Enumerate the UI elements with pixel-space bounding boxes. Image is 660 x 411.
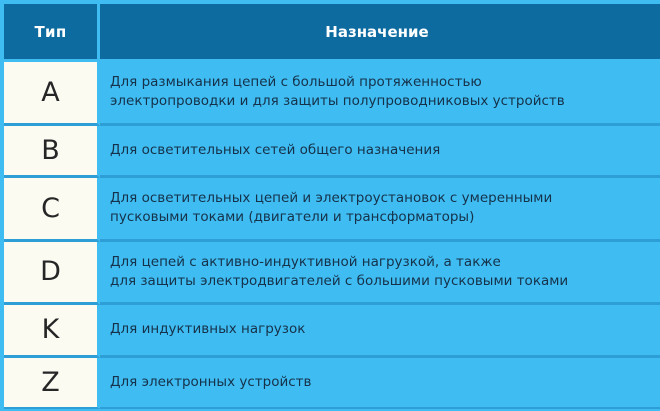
purpose-line: электропроводки и для защиты полупроводн…: [110, 92, 652, 111]
cell-type-z: Z: [4, 358, 100, 409]
purpose-line: Для цепей с активно-индуктивной нагрузко…: [110, 253, 652, 272]
purpose-line: пусковыми токами (двигатели и трансформа…: [110, 208, 652, 227]
cell-purpose-z: Для электронных устройств: [100, 358, 660, 409]
purpose-line: Для индуктивных нагрузок: [110, 320, 652, 339]
cell-type-d: D: [4, 242, 100, 306]
table-frame: Тип Назначение A Для размыкания цепей с …: [0, 0, 660, 411]
purpose-line: Для осветительных цепей и электроустанов…: [110, 189, 652, 208]
cell-type-k: K: [4, 305, 100, 358]
purpose-line: Для осветительных сетей общего назначени…: [110, 141, 652, 160]
cell-purpose-c: Для осветительных цепей и электроустанов…: [100, 178, 660, 242]
purpose-line: Для размыкания цепей с большой протяженн…: [110, 73, 652, 92]
table-row: K Для индуктивных нагрузок: [4, 305, 660, 358]
column-header-purpose: Назначение: [100, 4, 660, 62]
cell-type-b: B: [4, 126, 100, 179]
table-row: B Для осветительных сетей общего назначе…: [4, 126, 660, 179]
cell-purpose-k: Для индуктивных нагрузок: [100, 305, 660, 358]
table-row: Z Для электронных устройств: [4, 358, 660, 409]
purpose-line: для защиты электродвигателей с большими …: [110, 272, 652, 291]
cell-type-a: A: [4, 62, 100, 126]
cell-purpose-b: Для осветительных сетей общего назначени…: [100, 126, 660, 179]
cell-purpose-d: Для цепей с активно-индуктивной нагрузко…: [100, 242, 660, 306]
table-row: C Для осветительных цепей и электроустан…: [4, 178, 660, 242]
purpose-line: Для электронных устройств: [110, 373, 652, 392]
table-row: D Для цепей с активно-индуктивной нагруз…: [4, 242, 660, 306]
breaker-type-table: Тип Назначение A Для размыкания цепей с …: [4, 4, 660, 409]
cell-purpose-a: Для размыкания цепей с большой протяженн…: [100, 62, 660, 126]
table-row: A Для размыкания цепей с большой протяже…: [4, 62, 660, 126]
table-header-row: Тип Назначение: [4, 4, 660, 62]
cell-type-c: C: [4, 178, 100, 242]
column-header-type: Тип: [4, 4, 100, 62]
